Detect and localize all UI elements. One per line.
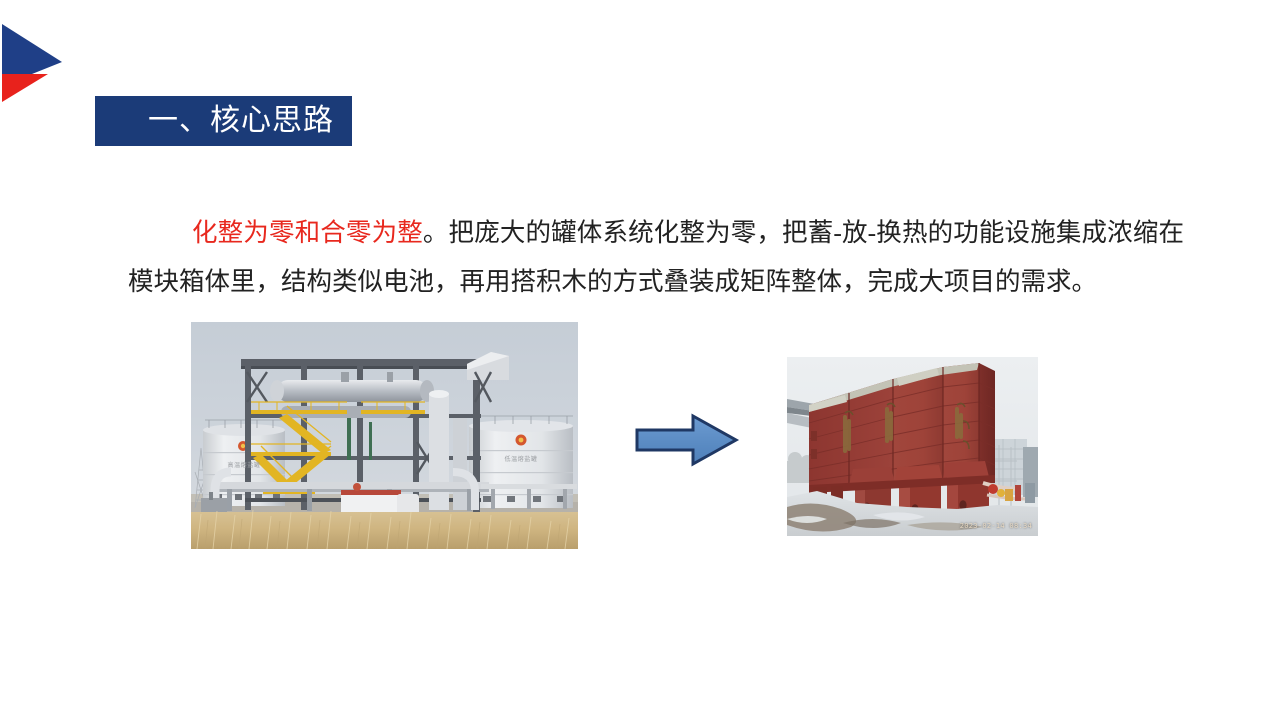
corner-logo-shape bbox=[0, 18, 70, 102]
svg-text:高温熔盐罐: 高温熔盐罐 bbox=[227, 461, 260, 469]
right-arrow-shape bbox=[633, 412, 740, 468]
corner-logo bbox=[0, 18, 70, 102]
figure-before-photo: 高温熔盐罐 低温熔盐罐 高温熔盐罐 低温熔盐罐 bbox=[191, 322, 578, 549]
figure-after-photo: 2023-02-14 08:34 bbox=[787, 357, 1038, 536]
photo-timestamp: 2023-02-14 08:34 bbox=[960, 522, 1032, 530]
right-arrow-icon bbox=[633, 412, 740, 468]
logo-red-triangle bbox=[2, 74, 48, 102]
body-paragraph: 化整为零和合零为整。把庞大的罐体系统化整为零，把蓄-放-换热的功能设施集成浓缩在… bbox=[128, 208, 1184, 306]
figure-before-illustration: 高温熔盐罐 低温熔盐罐 bbox=[191, 322, 578, 549]
section-title-banner: 一、核心思路 bbox=[95, 96, 352, 146]
paragraph-highlight: 化整为零和合零为整 bbox=[192, 218, 423, 247]
page-title: 一、核心思路 bbox=[148, 106, 352, 136]
svg-text:低温熔盐罐: 低温熔盐罐 bbox=[504, 455, 537, 463]
figure-after-illustration bbox=[787, 357, 1038, 536]
